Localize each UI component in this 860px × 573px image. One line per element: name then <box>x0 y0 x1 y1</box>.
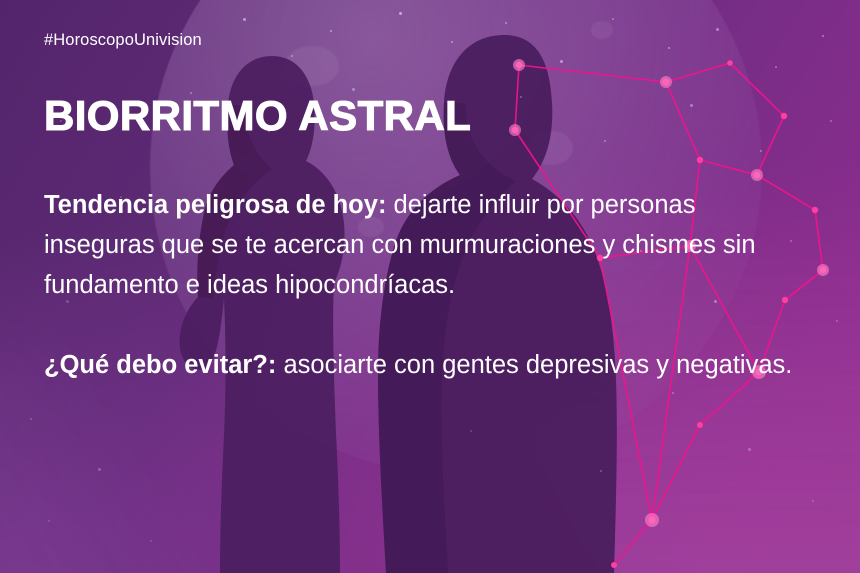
paragraph-tendencia: Tendencia peligrosa de hoy: dejarte infl… <box>44 185 806 305</box>
paragraph-tendencia-label: Tendencia peligrosa de hoy: <box>44 191 386 219</box>
horoscope-body: Tendencia peligrosa de hoy: dejarte infl… <box>44 185 806 385</box>
page-title: BIORRITMO ASTRAL <box>44 95 471 137</box>
paragraph-evitar-label: ¿Qué debo evitar?: <box>44 351 276 379</box>
text-content: #HoroscopoUnivision BIORRITMO ASTRAL Ten… <box>0 0 860 573</box>
paragraph-spacer <box>44 305 806 345</box>
paragraph-evitar: ¿Qué debo evitar?: asociarte con gentes … <box>44 345 806 385</box>
paragraph-evitar-text: asociarte con gentes depresivas y negati… <box>276 351 792 379</box>
horoscope-card: #HoroscopoUnivision BIORRITMO ASTRAL Ten… <box>0 0 860 573</box>
hashtag-label: #HoroscopoUnivision <box>44 31 202 50</box>
